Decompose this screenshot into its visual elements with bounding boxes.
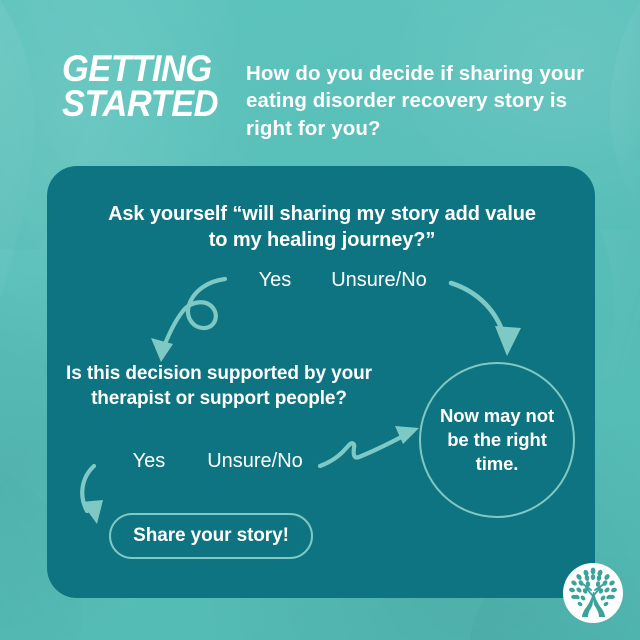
outcome-not-right-time-label: Now may not be the right time. <box>438 404 556 476</box>
branch-2-no-label: Unsure/No <box>185 450 325 473</box>
outcome-share-your-story[interactable]: Share your story! <box>109 513 313 559</box>
arrow-branch-1-no-curve <box>451 283 521 356</box>
header: GETTING STARTED How do you decide if sha… <box>0 0 640 160</box>
branch-2-yes-label: Yes <box>109 450 189 473</box>
outcome-share-label: Share your story! <box>133 525 289 547</box>
branch-1-no-label: Unsure/No <box>309 269 449 292</box>
infographic-canvas: GETTING STARTED How do you decide if sha… <box>0 0 640 640</box>
flowchart-card: Ask yourself “will sharing my story add … <box>47 166 595 598</box>
tree-logo <box>562 562 624 624</box>
flowchart-question-2: Is this decision supported by your thera… <box>59 361 379 411</box>
flowchart-question-1: Ask yourself “will sharing my story add … <box>97 201 547 254</box>
page-title-line-1: GETTING <box>62 52 225 87</box>
arrow-branch-1-yes-curly <box>151 279 225 362</box>
outcome-not-right-time: Now may not be the right time. <box>419 362 575 518</box>
arrow-branch-2-no-zigzag <box>320 426 419 466</box>
arrow-branch-2-yes-hook <box>81 466 103 524</box>
page-title-line-2: STARTED <box>62 87 225 122</box>
page-title: GETTING STARTED <box>62 52 237 122</box>
page-subtitle: How do you decide if sharing your eating… <box>246 60 588 142</box>
branch-1-yes-label: Yes <box>235 269 315 292</box>
